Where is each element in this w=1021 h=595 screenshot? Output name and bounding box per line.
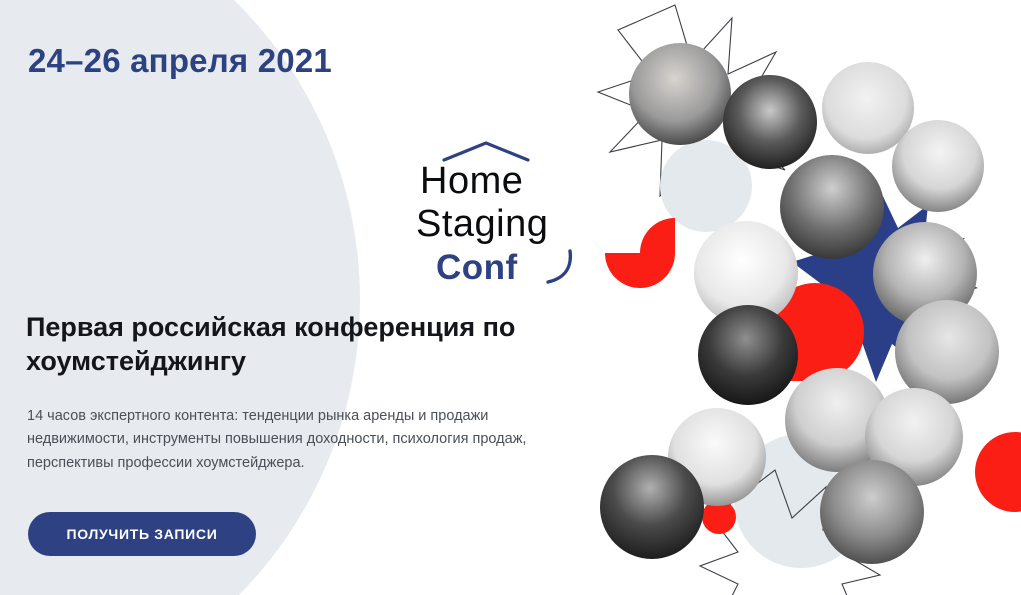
red-circle-right <box>975 432 1021 512</box>
portrait-man-brick-wall <box>820 460 924 564</box>
portrait-woman-long-hair <box>892 120 984 212</box>
logo-line-home: Home <box>420 162 523 200</box>
portrait-woman-black-top <box>600 455 704 559</box>
home-staging-conf-logo: Home Staging Conf <box>414 140 589 280</box>
hero-description: 14 часов экспертного контента: тенденции… <box>27 405 547 475</box>
get-recordings-button[interactable]: ПОЛУЧИТЬ ЗАПИСИ <box>28 512 256 556</box>
portrait-young-man <box>780 155 884 259</box>
logo-line-staging: Staging <box>416 205 548 243</box>
portrait-woman-dark-hair <box>723 75 817 169</box>
event-date: 24–26 апреля 2021 <box>28 42 332 80</box>
speaker-collage <box>580 0 1021 595</box>
page-title: Первая российская конференция по хоумсте… <box>26 310 546 378</box>
red-circle-left <box>605 218 675 288</box>
hero-text-column: 24–26 апреля 2021 Первая российская конф… <box>0 0 600 595</box>
collage-canvas <box>580 0 1021 595</box>
smile-swoosh-icon <box>536 248 578 290</box>
portrait-woman-hat <box>629 43 731 145</box>
hero-banner: 24–26 апреля 2021 Первая российская конф… <box>0 0 1021 595</box>
roof-chevron-icon <box>442 140 530 162</box>
logo-line-conf: Conf <box>436 250 518 285</box>
portrait-man-beard-black <box>698 305 798 405</box>
